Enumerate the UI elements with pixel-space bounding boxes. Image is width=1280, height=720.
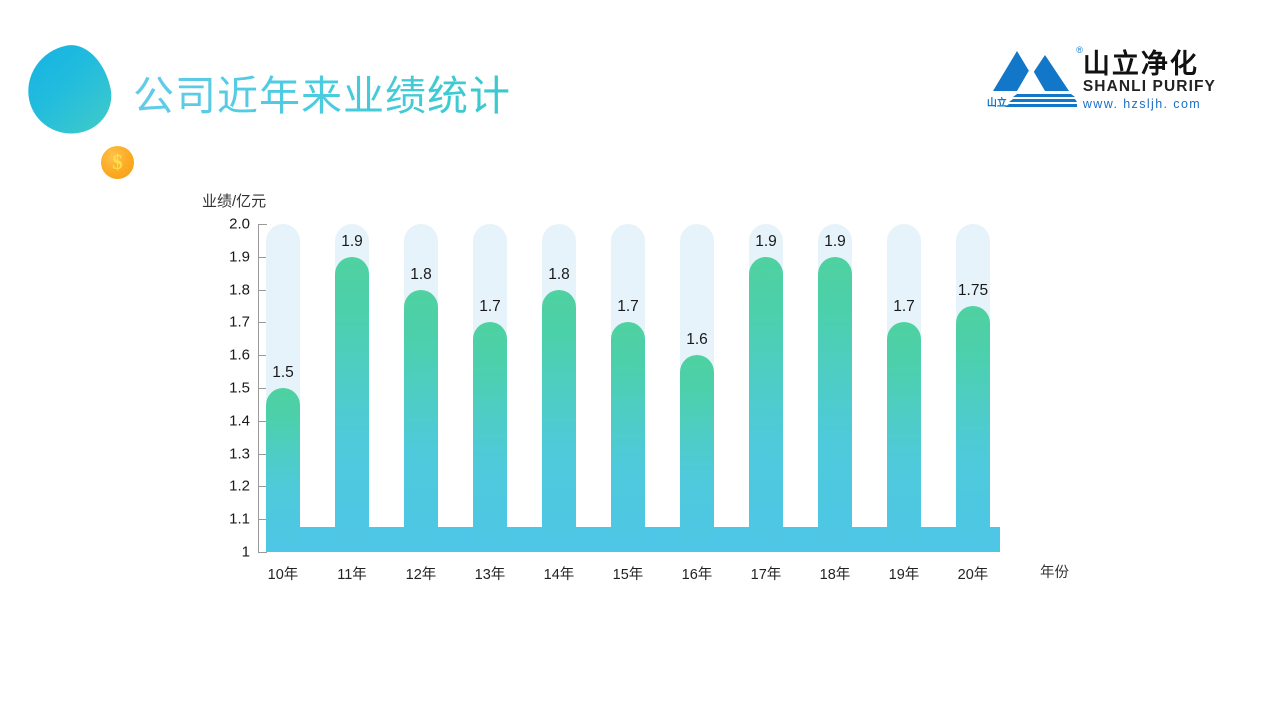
y-axis-tick-label: 1.2: [229, 478, 250, 495]
bar-fill: [887, 322, 921, 552]
y-axis-tick-label: 1.8: [229, 281, 250, 298]
x-axis-tick-label: 12年: [406, 563, 437, 584]
x-axis-tick-label: 17年: [751, 563, 782, 584]
x-axis-tick-label: 20年: [958, 563, 989, 584]
x-axis-tick-label: 15年: [613, 563, 644, 584]
bar-group[interactable]: 1.719年: [887, 224, 921, 552]
bar-fill: [818, 257, 852, 552]
bar-value-label: 1.5: [272, 364, 294, 382]
y-axis-labels: 11.11.21.31.41.51.61.71.81.92.0: [196, 0, 250, 720]
bar-value-label: 1.9: [341, 233, 363, 251]
y-axis-tick-label: 1.1: [229, 511, 250, 528]
bar-group[interactable]: 1.812年: [404, 224, 438, 552]
bar-group[interactable]: 1.814年: [542, 224, 576, 552]
y-axis-tick-label: 1.6: [229, 347, 250, 364]
bar-group[interactable]: 1.713年: [473, 224, 507, 552]
bar-value-label: 1.9: [824, 233, 846, 251]
x-axis-tick-label: 10年: [268, 563, 299, 584]
y-axis-tick-label: 1.7: [229, 314, 250, 331]
bar-group[interactable]: 1.616年: [680, 224, 714, 552]
bar-group[interactable]: 1.510年: [266, 224, 300, 552]
bar-group[interactable]: 1.911年: [335, 224, 369, 552]
x-axis-tick-label: 13年: [475, 563, 506, 584]
bar-fill: [749, 257, 783, 552]
bar-fill: [956, 306, 990, 552]
y-axis-tick-label: 2.0: [229, 216, 250, 233]
bar-value-label: 1.75: [958, 282, 988, 300]
x-axis-title: 年份: [1040, 561, 1069, 582]
bar-group[interactable]: 1.918年: [818, 224, 852, 552]
bar-fill: [266, 388, 300, 552]
x-axis-tick-label: 19年: [889, 563, 920, 584]
x-axis-tick-label: 16年: [682, 563, 713, 584]
bar-group[interactable]: 1.917年: [749, 224, 783, 552]
performance-bar-chart: 业绩/亿元 年份 11.11.21.31.41.51.61.71.81.92.0…: [0, 0, 1280, 720]
y-axis-tick-label: 1.3: [229, 445, 250, 462]
bar-fill: [611, 322, 645, 552]
x-axis-tick-label: 11年: [337, 563, 367, 584]
bar-value-label: 1.6: [686, 331, 708, 349]
bar-fill: [473, 322, 507, 552]
bar-value-label: 1.7: [479, 298, 501, 316]
chart-plot-area: 1.510年1.911年1.812年1.713年1.814年1.715年1.61…: [258, 224, 1000, 552]
bar-fill: [542, 290, 576, 552]
y-axis-tick-label: 1.4: [229, 412, 250, 429]
y-axis-tick-label: 1: [242, 544, 250, 561]
bar-value-label: 1.8: [410, 266, 432, 284]
bar-value-label: 1.7: [893, 298, 915, 316]
bar-fill: [680, 355, 714, 552]
bar-value-label: 1.7: [617, 298, 639, 316]
x-axis-tick-label: 14年: [544, 563, 575, 584]
bar-fill: [404, 290, 438, 552]
x-axis-tick-label: 18年: [820, 563, 851, 584]
bar-fill: [335, 257, 369, 552]
y-axis-tick: [258, 552, 267, 553]
y-axis-tick-label: 1.9: [229, 248, 250, 265]
bar-value-label: 1.9: [755, 233, 777, 251]
bar-group[interactable]: 1.715年: [611, 224, 645, 552]
bar-group[interactable]: 1.7520年: [956, 224, 990, 552]
y-axis-tick-label: 1.5: [229, 380, 250, 397]
bar-value-label: 1.8: [548, 266, 570, 284]
